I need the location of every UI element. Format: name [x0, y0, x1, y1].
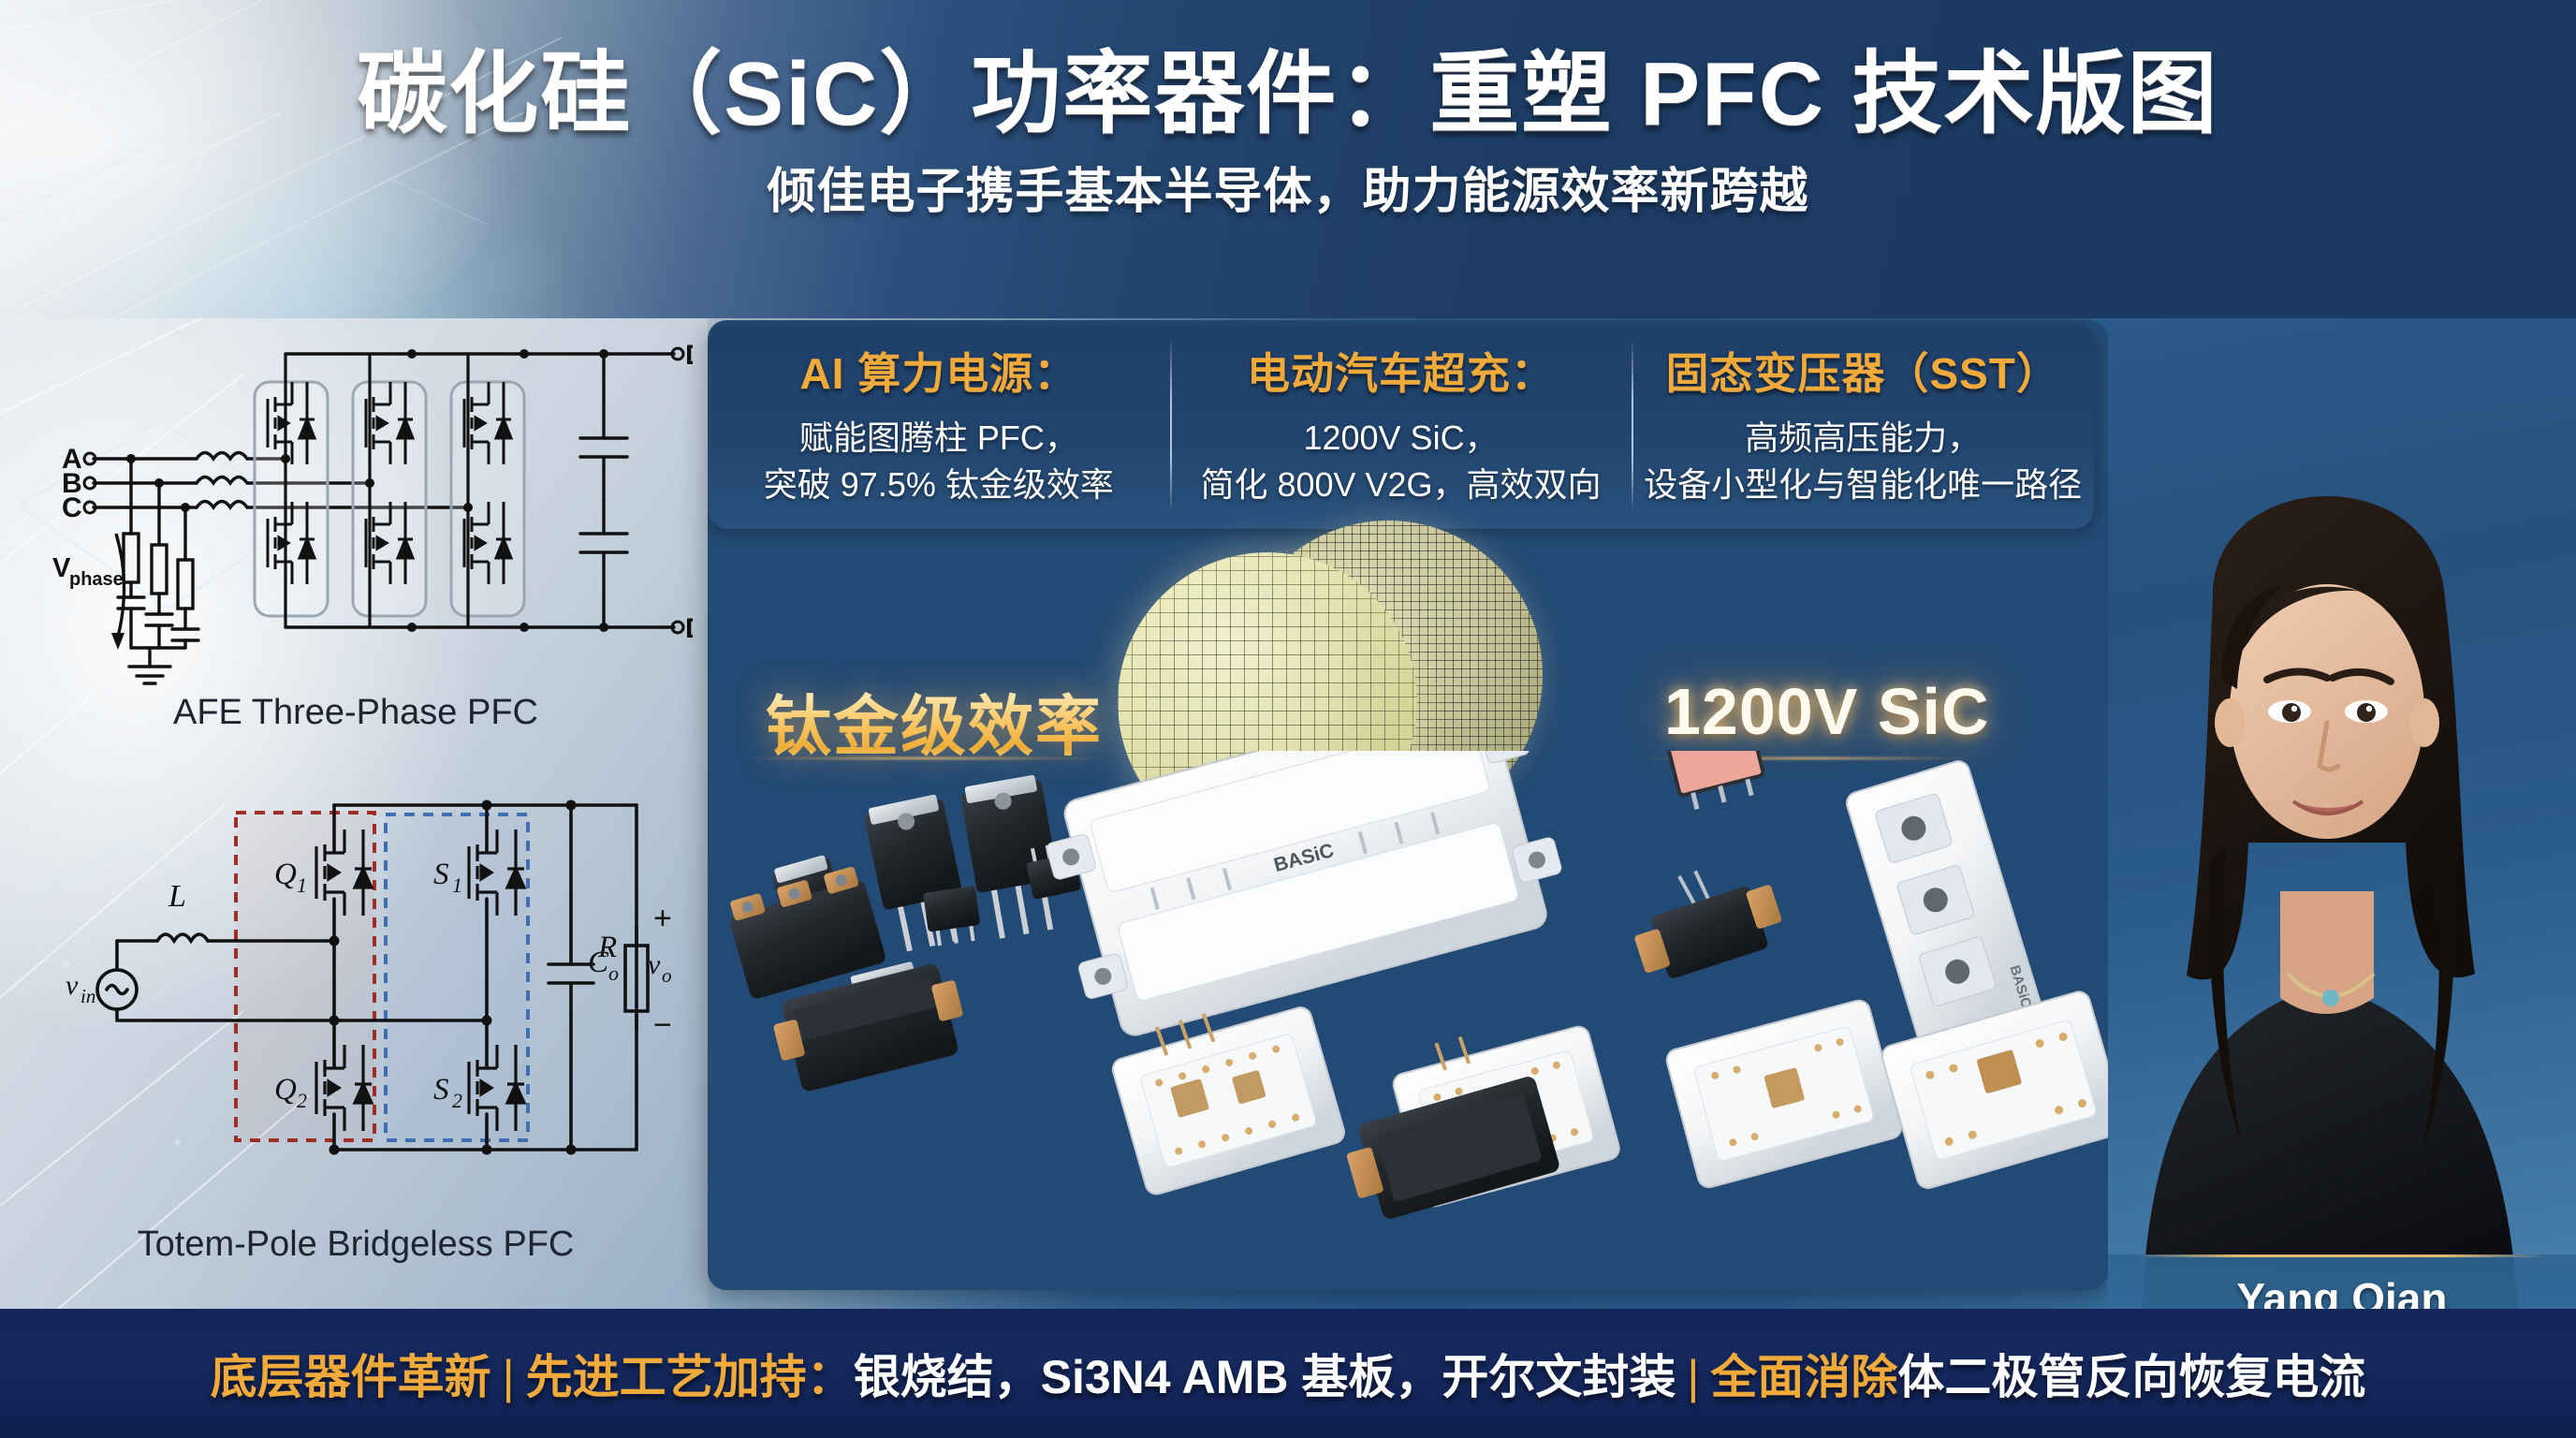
speaker-portrait: [2108, 318, 2576, 1309]
label-vin-sub: in: [80, 985, 95, 1007]
info-line-3b: 设备小型化与智能化唯一路径: [1632, 462, 2094, 508]
speaker-name: Yang Qian: [2108, 1273, 2576, 1309]
header-band: 碳化硅（SiC）功率器件：重塑 PFC 技术版图 倾佳电子携手基本半导体，助力能…: [0, 0, 2576, 318]
label-q2: Q: [274, 1073, 297, 1107]
afe-circuit-svg: A B C V phase DC+ DC-: [19, 318, 693, 693]
banner-segment-4: 全面消除: [1710, 1351, 1897, 1403]
banner-segment-1: 底层器件革新: [211, 1351, 491, 1403]
info-column-ai-power: AI 算力电源： 赋能图腾柱 PFC， 突破 97.5% 钛金级效率: [708, 325, 1170, 529]
circuit-totem-pole-bridgeless-pfc: L v in Q 1 Q 2 S 1 S 2 C o R v: [19, 786, 693, 1292]
banner-separator-2: |: [1676, 1351, 1710, 1403]
banner-separator-1: |: [491, 1351, 526, 1403]
product-lineup: BASiC: [708, 751, 2108, 1290]
info-heading-3: 固态变压器（SST）: [1632, 340, 2094, 402]
label-vo: v: [648, 949, 661, 980]
banner-segment-3: 银烧结，Si3N4 AMB 基板，开尔文封装: [854, 1351, 1676, 1403]
label-q2-sub: 2: [297, 1089, 307, 1112]
label-phase-c: C: [62, 492, 82, 523]
label-q1-sub: 1: [297, 873, 307, 897]
label-s2: S: [433, 1073, 449, 1107]
label-vin: v: [66, 970, 79, 1001]
label-minus-sign: −: [653, 1007, 672, 1043]
info-line-3a: 高频高压能力，: [1632, 415, 2094, 462]
banner-line: 底层器件革新|先进工艺加持：银烧结，Si3N4 AMB 基板，开尔文封装|全面消…: [211, 1340, 2366, 1407]
info-line-1a: 赋能图腾柱 PFC，: [708, 415, 1170, 462]
info-column-ev-charging: 电动汽车超充： 1200V SiC， 简化 800V V2G，高效双向: [1170, 325, 1632, 529]
page-subtitle: 倾佳电子携手基本半导体，助力能源效率新跨越: [0, 152, 2576, 222]
product-black-tab-module: [1620, 850, 1789, 986]
info-line-2a: 1200V SiC，: [1170, 415, 1632, 462]
totem-pole-circuit-svg: L v in Q 1 Q 2 S 1 S 2 C o R v: [19, 786, 693, 1226]
label-vo-sub: o: [662, 964, 672, 987]
speaker-name-card: Yang Qian Sales Director: [2108, 1255, 2576, 1309]
banner-segment-2: 先进工艺加持：: [526, 1351, 854, 1403]
product-large-white-module: BASiC: [1036, 751, 1574, 1045]
bottom-banner: 底层器件革新|先进工艺加持：银烧结，Si3N4 AMB 基板，开尔文封装|全面消…: [0, 1309, 2576, 1438]
label-inductor-l: L: [168, 879, 186, 914]
label-dc-minus: DC-: [685, 613, 693, 644]
afe-caption: AFE Three-Phase PFC: [19, 693, 693, 733]
info-column-sst: 固态变压器（SST） 高频高压能力， 设备小型化与智能化唯一路径: [1632, 325, 2094, 529]
body-area: A B C V phase DC+ DC- AFE Three-Phase PF…: [0, 318, 2576, 1309]
slide-root: 碳化硅（SiC）功率器件：重塑 PFC 技术版图 倾佳电子携手基本半导体，助力能…: [0, 0, 2576, 1438]
label-q1: Q: [274, 858, 297, 891]
product-sop-package: [1662, 751, 1768, 813]
label-resistor-r: R: [597, 931, 617, 964]
gold-divider-rule: [2136, 1255, 2548, 1257]
label-s2-sub: 2: [452, 1089, 462, 1112]
info-strip: AI 算力电源： 赋能图腾柱 PFC， 突破 97.5% 钛金级效率 电动汽车超…: [708, 325, 2094, 529]
label-dc-plus: DC+: [685, 340, 693, 371]
info-line-1b: 突破 97.5% 钛金级效率: [708, 462, 1170, 508]
label-s1-sub: 1: [452, 873, 462, 897]
info-heading-2: 电动汽车超充：: [1170, 340, 1632, 402]
info-line-2b: 简化 800V V2G，高效双向: [1170, 462, 1632, 508]
left-diagram-panel: A B C V phase DC+ DC- AFE Three-Phase PF…: [0, 318, 708, 1309]
product-open-module-c: [1664, 998, 1904, 1190]
speaker-portrait-panel: [2108, 318, 2576, 1309]
label-plus-sign: +: [653, 901, 672, 936]
label-co-sub: o: [608, 961, 619, 985]
label-vphase: V: [52, 553, 71, 583]
banner-segment-5: 体二极管反向恢复电流: [1897, 1351, 2365, 1403]
page-title: 碳化硅（SiC）功率器件：重塑 PFC 技术版图: [0, 21, 2576, 151]
circuit-afe-three-phase-pfc: A B C V phase DC+ DC- AFE Three-Phase PF…: [19, 318, 693, 730]
info-heading-1: AI 算力电源：: [708, 340, 1170, 402]
main-showcase-card: AI 算力电源： 赋能图腾柱 PFC， 突破 97.5% 钛金级效率 电动汽车超…: [708, 320, 2108, 1290]
totem-pole-caption: Totem-Pole Bridgeless PFC: [19, 1225, 693, 1265]
white-headline-label: 1200V SiC: [1664, 674, 1990, 749]
label-vphase-sub: phase: [69, 569, 124, 590]
label-s1: S: [433, 858, 449, 891]
